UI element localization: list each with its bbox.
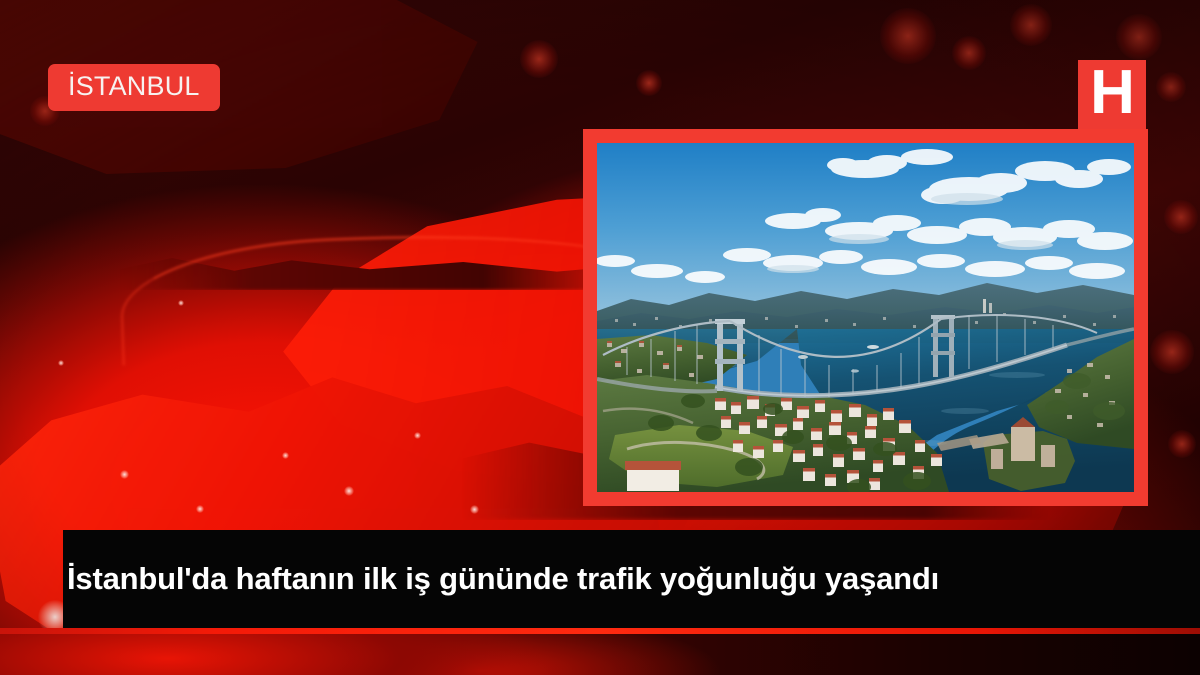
news-card: İSTANBUL H [0, 0, 1200, 675]
bottom-strip [0, 634, 1200, 675]
logo-letter: H [1090, 62, 1134, 124]
city-badge: İSTANBUL [48, 64, 220, 111]
city-badge-label: İSTANBUL [68, 71, 200, 101]
haberler-h-logo[interactable]: H [1078, 60, 1146, 130]
bosphorus-illustration [597, 143, 1134, 492]
villa-building [627, 469, 679, 491]
photo-frame [583, 129, 1148, 506]
bosphorus-photo [597, 143, 1134, 492]
bridge-tower-near [717, 319, 723, 391]
headline-text: İstanbul'da haftanın ilk iş gününde traf… [63, 561, 953, 597]
headline-band: İstanbul'da haftanın ilk iş gününde traf… [63, 530, 1200, 628]
